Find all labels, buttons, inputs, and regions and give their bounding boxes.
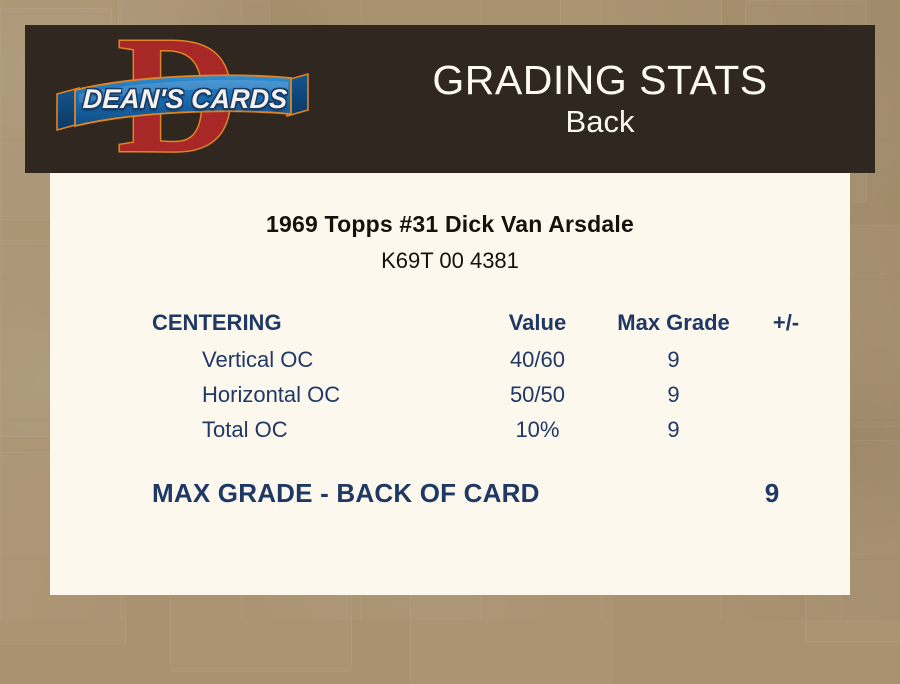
table-header-row: CENTERING Value Max Grade +/- <box>152 305 822 342</box>
max-grade-summary-row: MAX GRADE - BACK OF CARD 9 <box>152 478 822 509</box>
stats-table-head: CENTERING Value Max Grade +/- <box>152 305 822 342</box>
page-title: GRADING STATS <box>432 59 767 102</box>
header-title-block: GRADING STATS Back <box>325 25 875 173</box>
column-header-centering: CENTERING <box>152 305 478 342</box>
table-row: Total OC 10% 9 <box>152 412 822 447</box>
column-header-value: Value <box>478 305 597 342</box>
row-label: Total OC <box>152 412 478 447</box>
row-value: 50/50 <box>478 377 597 412</box>
column-header-max-grade: Max Grade <box>597 305 750 342</box>
row-label: Horizontal OC <box>152 377 478 412</box>
content-panel: 1969 Topps #31 Dick Van Arsdale K69T 00 … <box>50 173 850 595</box>
stats-table-body: Vertical OC 40/60 9 Horizontal OC 50/50 … <box>152 342 822 447</box>
row-plus-minus <box>750 342 822 377</box>
row-plus-minus <box>750 412 822 447</box>
header-bar: D D <box>25 25 875 173</box>
row-value: 10% <box>478 412 597 447</box>
logo-wordmark: DEAN'S CARDS <box>70 84 299 115</box>
row-plus-minus <box>750 377 822 412</box>
deans-cards-logo[interactable]: D D <box>55 27 310 171</box>
grading-stats-table: CENTERING Value Max Grade +/- Vertical O… <box>152 305 822 447</box>
row-max-grade: 9 <box>597 377 750 412</box>
table-row: Vertical OC 40/60 9 <box>152 342 822 377</box>
row-value: 40/60 <box>478 342 597 377</box>
max-grade-value: 9 <box>732 478 812 509</box>
row-max-grade: 9 <box>597 342 750 377</box>
row-label: Vertical OC <box>152 342 478 377</box>
card-serial-number: K69T 00 4381 <box>50 238 850 274</box>
table-row: Horizontal OC 50/50 9 <box>152 377 822 412</box>
max-grade-label: MAX GRADE - BACK OF CARD <box>152 478 540 509</box>
row-max-grade: 9 <box>597 412 750 447</box>
page-subtitle: Back <box>566 106 635 139</box>
card-title: 1969 Topps #31 Dick Van Arsdale <box>50 173 850 238</box>
column-header-plus-minus: +/- <box>750 305 822 342</box>
